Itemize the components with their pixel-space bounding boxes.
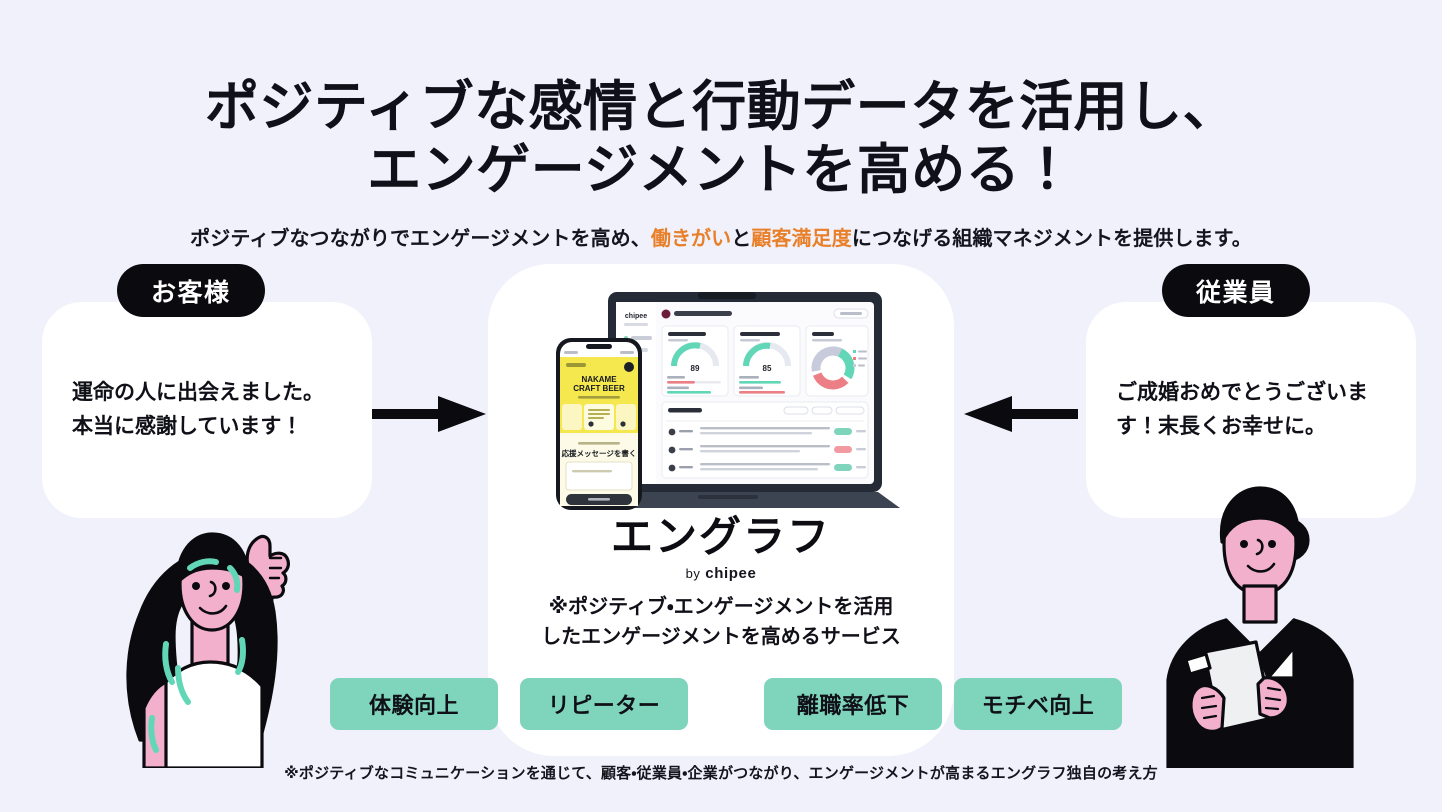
- arrow-left-icon: [962, 392, 1078, 436]
- product-tagline: ※ポジティブ・エンゲージメントを活用 したエンゲージメントを高めるサービス: [470, 592, 972, 653]
- product-logo-block: エングラフ by chipee: [488, 516, 954, 582]
- customer-quote: 運命の人に出会えました。本当に感謝しています！: [72, 376, 342, 444]
- tagline-line-1: ※ポジティブ・エンゲージメントを活用: [549, 596, 894, 618]
- illustration-employee-woman: [1148, 482, 1378, 768]
- subheadline-highlight-engagement: 働きがい: [651, 228, 731, 250]
- headline-line-2: エンゲージメントを高める！: [0, 139, 1442, 202]
- badge-employee: 従業員: [1162, 264, 1310, 317]
- svg-text:NAKAME: NAKAME: [581, 375, 617, 384]
- page-title: ポジティブな感情と行動データを活用し、 エンゲージメントを高める！: [0, 76, 1442, 201]
- subheadline-part-3: につなげる組織マネジメントを提供します。: [852, 228, 1252, 250]
- employee-quote: ご成婚おめでとうございます！末長くお幸せに。: [1116, 376, 1386, 444]
- svg-text:CRAFT BEER: CRAFT BEER: [573, 384, 625, 393]
- subheadline-highlight-satisfaction: 顧客満足度: [751, 228, 852, 250]
- subheadline: ポジティブなつながりでエンゲージメントを高め、働きがいと顧客満足度につなげる組織…: [0, 222, 1442, 251]
- benefit-tag-list: 体験向上 リピーター 離職率低下 モチベ向上: [330, 678, 1120, 730]
- svg-text:85: 85: [763, 364, 772, 373]
- benefit-tag: 体験向上: [330, 678, 498, 730]
- tagline-line-2: したエンゲージメントを高めるサービス: [541, 626, 901, 648]
- arrow-right-icon: [372, 392, 488, 436]
- subheadline-part-2: と: [731, 228, 751, 250]
- svg-text:chipee: chipee: [625, 313, 647, 320]
- svg-text:応援メッセージを書く: 応援メッセージを書く: [562, 448, 637, 458]
- svg-text:89: 89: [691, 364, 700, 373]
- logo-engraph: エングラフ: [488, 516, 954, 558]
- logo-byline: by chipee: [488, 565, 954, 582]
- logo-brand-chipee: chipee: [705, 565, 756, 582]
- badge-customer: お客様: [117, 264, 265, 317]
- benefit-tag: 離職率低下: [764, 678, 942, 730]
- product-device-mockup: chipee 89 85: [548, 278, 910, 514]
- illustration-customer-woman: [78, 472, 338, 768]
- logo-by-prefix: by: [686, 566, 701, 581]
- subheadline-part-1: ポジティブなつながりでエンゲージメントを高め、: [190, 228, 651, 250]
- headline-line-1: ポジティブな感情と行動データを活用し、: [205, 77, 1237, 137]
- benefit-tag: モチベ向上: [954, 678, 1122, 730]
- footnote: ※ポジティブなコミュニケーションを通じて、顧客・従業員・企業がつながり、エンゲー…: [0, 762, 1442, 783]
- benefit-tag: リピーター: [520, 678, 688, 730]
- infographic-canvas: ポジティブな感情と行動データを活用し、 エンゲージメントを高める！ ポジティブな…: [0, 0, 1442, 812]
